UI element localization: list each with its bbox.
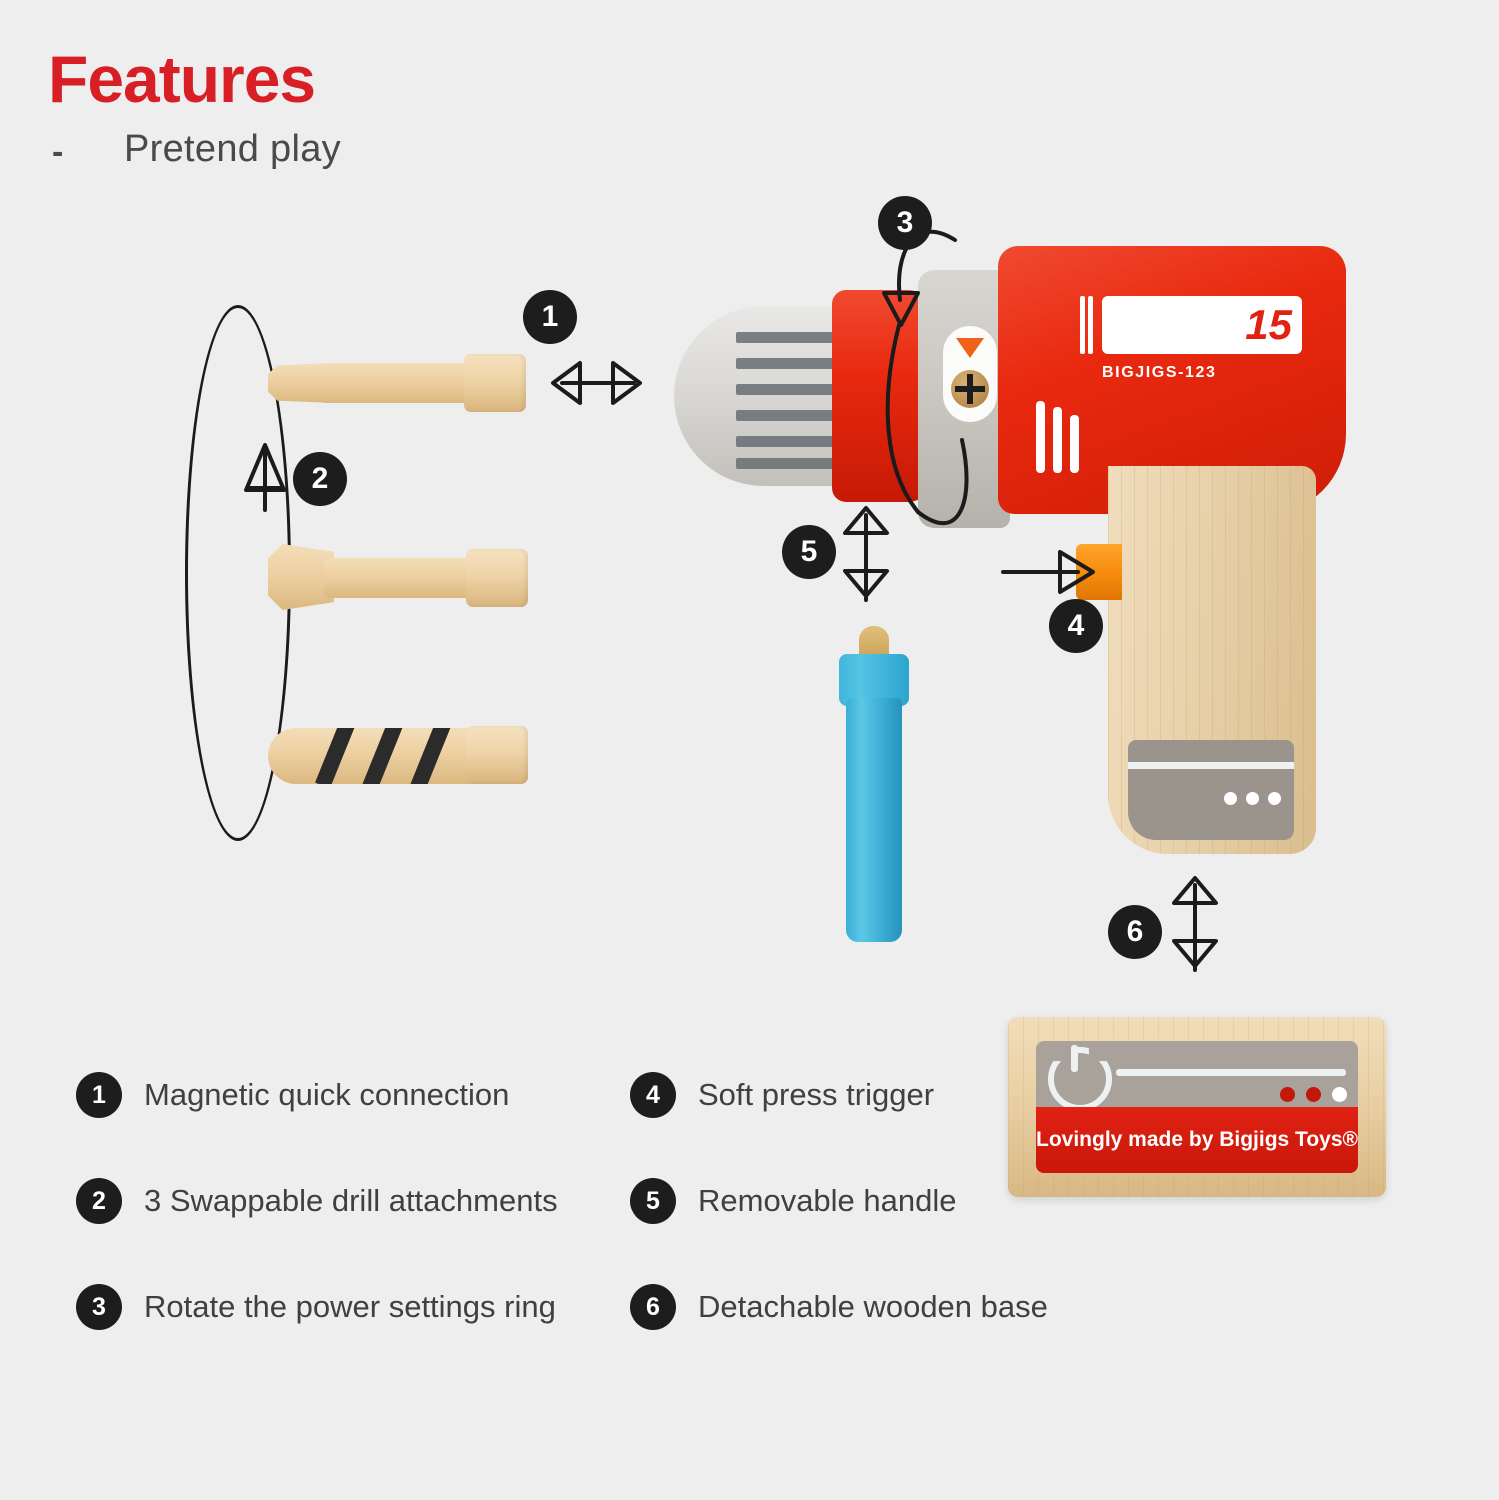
feature-label-6: Detachable wooden base [698, 1289, 1048, 1325]
callout-badge-2: 2 [293, 452, 347, 506]
feature-badge-1: 1 [76, 1072, 122, 1118]
feature-label-4: Soft press trigger [698, 1077, 934, 1113]
feature-badge-2: 2 [76, 1178, 122, 1224]
bit-shaft [320, 363, 472, 403]
orange-triangle-icon [956, 338, 984, 358]
handle-indicator-dot [1268, 792, 1281, 805]
toy-drill: 15 BIGJIGS-123 [660, 228, 1380, 868]
feature-label-5: Removable handle [698, 1183, 957, 1219]
drill-grip-handle [1108, 466, 1316, 854]
power-icon [1048, 1047, 1112, 1111]
feature-label-1: Magnetic quick connection [144, 1077, 509, 1113]
brand-text: Lovingly made by Bigjigs Toys® [1036, 1128, 1358, 1152]
feature-badge-5: 5 [630, 1178, 676, 1224]
drill-bit-hex [268, 540, 538, 616]
ring-indicator-oval [943, 326, 997, 422]
bit-stripe [406, 728, 455, 784]
callout-badge-4: 4 [1049, 599, 1103, 653]
bit-striped-body [312, 728, 478, 784]
decorative-bars-icon [1036, 401, 1082, 473]
bit-stripe [358, 728, 407, 784]
soft-press-trigger[interactable] [1076, 544, 1122, 600]
handle-tube [846, 698, 902, 942]
base-indicator-dot-white [1332, 1087, 1347, 1102]
screw-slot-horizontal [955, 386, 985, 392]
label-bars-icon [1080, 296, 1098, 354]
model-number: BIGJIGS-123 [1102, 364, 1217, 382]
bit-collar [464, 354, 526, 412]
power-number: 15 [1245, 304, 1292, 346]
detachable-wooden-base[interactable]: Lovingly made by Bigjigs Toys® [1008, 1017, 1386, 1197]
feature-badge-3: 3 [76, 1284, 122, 1330]
base-indicator-dot-red [1306, 1087, 1321, 1102]
handle-grey-panel [1128, 740, 1294, 840]
bit-stripe [312, 728, 358, 784]
base-grey-panel [1036, 1041, 1358, 1107]
callout-badge-1: 1 [523, 290, 577, 344]
double-arrow-horizontal-icon [553, 363, 640, 403]
handle-white-line [1128, 762, 1294, 769]
blue-removable-handle[interactable] [833, 626, 915, 942]
callout-badge-3: 3 [878, 196, 932, 250]
callout-badge-5: 5 [782, 525, 836, 579]
base-red-panel: Lovingly made by Bigjigs Toys® [1036, 1107, 1358, 1173]
feature-row-2: 2 3 Swappable drill attachments [76, 1178, 558, 1224]
bit-collar [466, 549, 528, 607]
feature-row-1: 1 Magnetic quick connection [76, 1072, 509, 1118]
feature-label-3: Rotate the power settings ring [144, 1289, 556, 1325]
drill-bit-striped [268, 722, 538, 794]
double-arrow-vertical-icon-6 [1174, 878, 1216, 970]
bit-collar [466, 726, 528, 784]
infographic-canvas: Features - Pretend play [0, 0, 1499, 1500]
handle-indicator-dot [1246, 792, 1259, 805]
screw-head-icon [951, 370, 989, 408]
base-indicator-dot-red [1280, 1087, 1295, 1102]
feature-row-5: 5 Removable handle [630, 1178, 957, 1224]
bit-shaft [324, 558, 474, 598]
feature-row-4: 4 Soft press trigger [630, 1072, 934, 1118]
handle-indicator-dot [1224, 792, 1237, 805]
feature-row-3: 3 Rotate the power settings ring [76, 1284, 556, 1330]
feature-badge-4: 4 [630, 1072, 676, 1118]
base-white-line [1116, 1069, 1346, 1076]
callout-badge-6: 6 [1108, 905, 1162, 959]
power-label-panel: 15 [1102, 296, 1302, 354]
drill-red-collar [832, 290, 932, 502]
feature-badge-6: 6 [630, 1284, 676, 1330]
feature-row-6: 6 Detachable wooden base [630, 1284, 1048, 1330]
power-icon-bar [1071, 1045, 1078, 1072]
page-title: Features [48, 46, 315, 112]
page-subtitle: Pretend play [124, 128, 341, 171]
subtitle-dash: - [52, 133, 63, 172]
feature-label-2: 3 Swappable drill attachments [144, 1183, 558, 1219]
drill-bit-flat [268, 352, 538, 414]
